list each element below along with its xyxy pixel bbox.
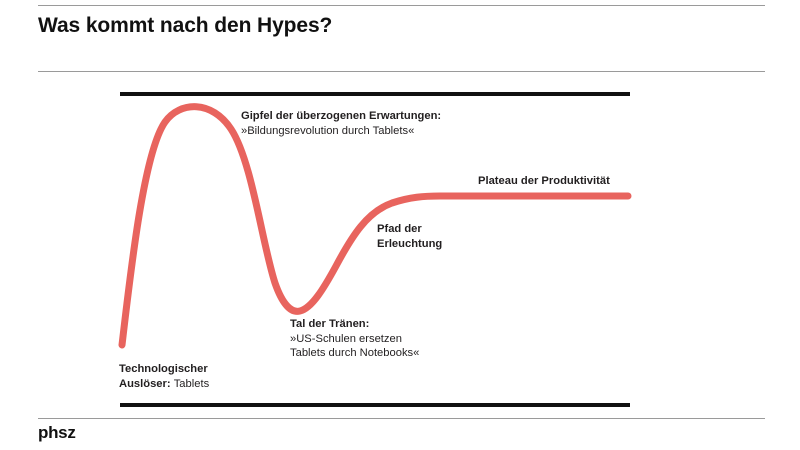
annotation-peak: Gipfel der überzogenen Erwartungen: »Bil… [241, 109, 441, 138]
annotation-trigger-line2: Auslöser: Tablets [119, 377, 209, 392]
annotation-trough: Tal der Tränen: »US-Schulen ersetzen Tab… [290, 317, 419, 361]
annotation-plateau-heading: Plateau der Produktivität [478, 174, 610, 189]
annotation-trough-quote-line2: Tablets durch Notebooks« [290, 346, 419, 361]
slide-canvas: Was kommt nach den Hypes? Gipfel der übe… [0, 0, 800, 450]
page-title: Was kommt nach den Hypes? [38, 14, 332, 38]
annotation-plateau: Plateau der Produktivität [478, 174, 610, 189]
phsz-logo: phsz [38, 423, 76, 443]
annotation-trigger: Technologischer Auslöser: Tablets [119, 362, 209, 391]
annotation-slope: Pfad der Erleuchtung [377, 222, 442, 251]
chart-bottom-bar [120, 403, 630, 407]
annotation-trough-quote-line1: »US-Schulen ersetzen [290, 332, 419, 347]
divider-under-title [38, 71, 765, 72]
divider-footer [38, 418, 765, 419]
annotation-slope-line2: Erleuchtung [377, 237, 442, 252]
annotation-slope-line1: Pfad der [377, 222, 442, 237]
annotation-trigger-line1: Technologischer [119, 362, 209, 377]
annotation-peak-quote: »Bildungsrevolution durch Tablets« [241, 124, 441, 139]
annotation-trough-heading: Tal der Tränen: [290, 317, 419, 332]
divider-top [38, 5, 765, 6]
annotation-peak-heading: Gipfel der überzogenen Erwartungen: [241, 109, 441, 124]
chart-top-bar [120, 92, 630, 96]
annotation-trigger-value: Tablets [174, 378, 209, 390]
annotation-trigger-heading-2: Auslöser: [119, 378, 171, 390]
